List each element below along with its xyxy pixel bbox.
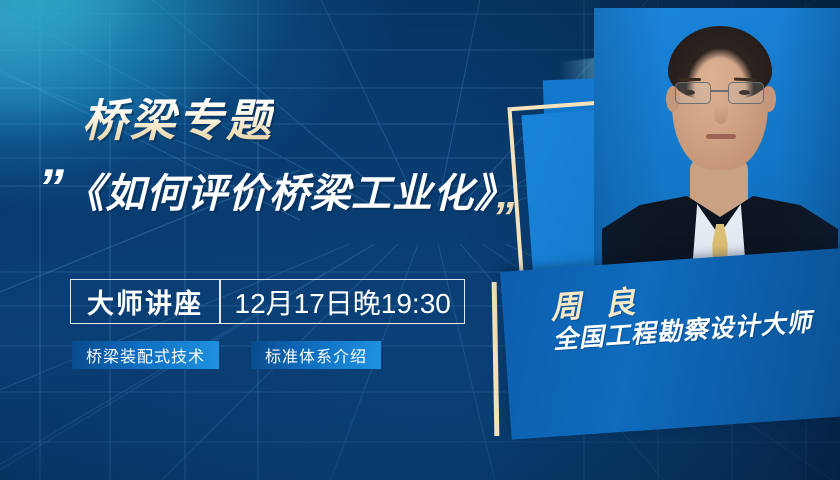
topic-tag-list: 桥梁装配式技术 标准体系介绍 [72,341,381,369]
gold-accent-line [492,282,500,436]
speaker-name-panel: 周 良 全国工程勘察设计大师 [500,248,840,440]
series-badge-label: 大师讲座 [71,280,219,323]
speaker-composition: 周 良 全国工程勘察设计大师 [486,0,840,480]
lecture-subtitle: 《如何评价桥梁工业化》 [64,174,515,214]
lecture-promo-banner: 桥梁专题 ” 《如何评价桥梁工业化》 ” 大师讲座 12月17日晚19:30 桥… [0,0,840,480]
page-title: 桥梁专题 [82,98,274,143]
speaker-name-group: 周 良 全国工程勘察设计大师 [550,274,814,354]
quotation-mark-open-icon: ” [38,162,60,214]
lecture-datetime: 12月17日晚19:30 [221,280,464,323]
topic-tag: 桥梁装配式技术 [72,341,219,369]
topic-tag: 标准体系介绍 [251,341,381,369]
lecture-info-box: 大师讲座 12月17日晚19:30 [70,279,465,324]
